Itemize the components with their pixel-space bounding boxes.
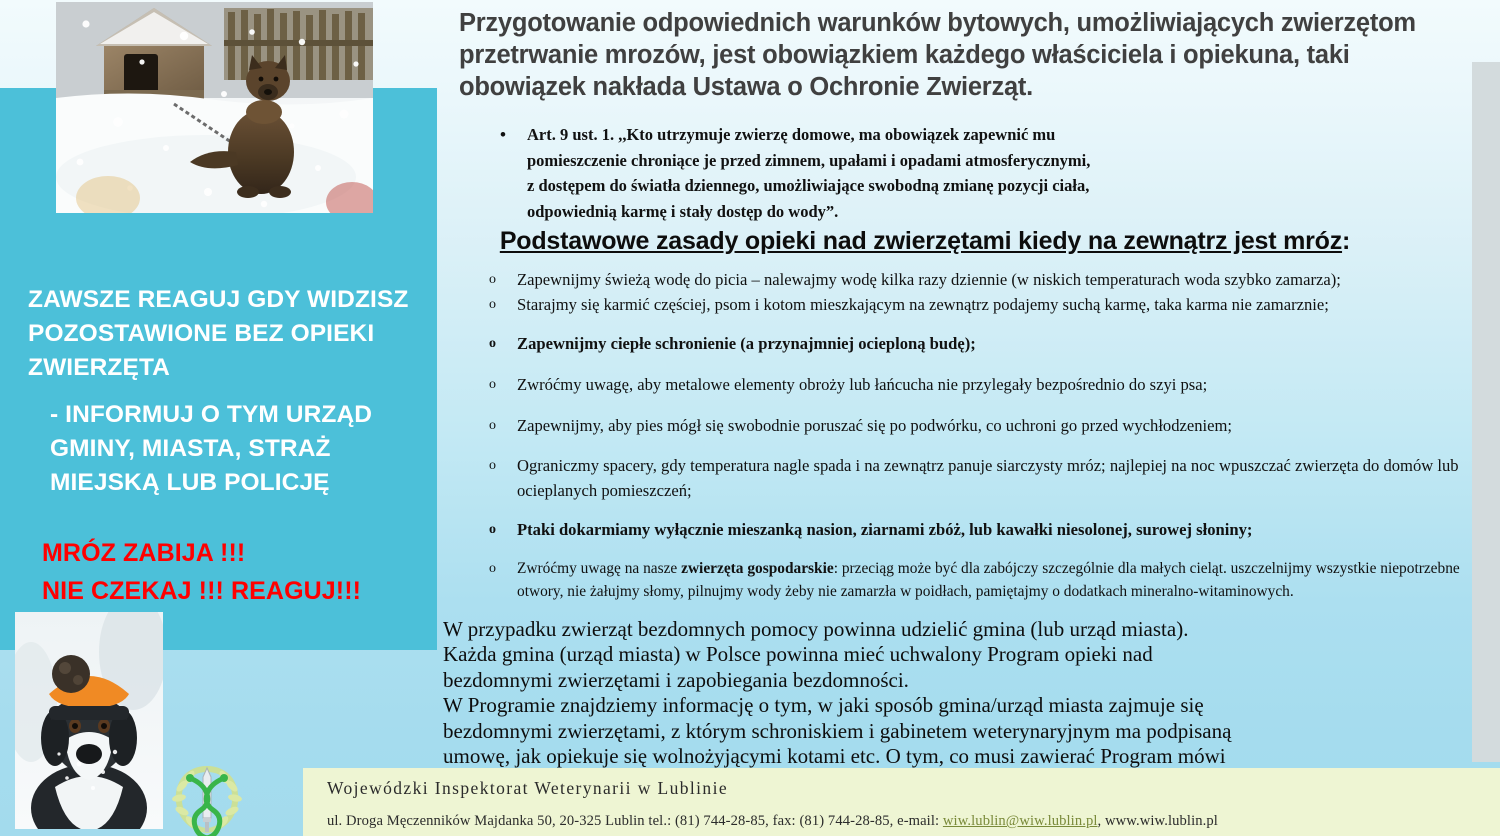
footer-email-link[interactable]: wiw.lublin@wiw.lublin.pl [943,813,1098,829]
footer-contact-line: ul. Droga Męczenników Majdanka 50, 20-32… [327,813,1218,830]
section-title-text: Podstawowe zasady opieki nad zwierzętami… [500,227,1342,255]
photo-dog-in-winter-hat [15,612,163,829]
tip-item: o Zwróćmy uwagę, aby metalowe elementy o… [455,373,1465,398]
sidebar-subline: - INFORMUJ O TYM URZĄD GMINY, MIASTA, ST… [50,398,440,500]
tip-item: o Starajmy się karmić częściej, psom i k… [455,293,1465,318]
circle-bullet-icon: o [489,415,496,436]
tip-text: Ptaki dokarmiamy wyłącznie mieszanką nas… [517,520,1252,539]
tip-text: Zapewnijmy świeżą wodę do picia – nalewa… [517,270,1341,289]
page-headline: Przygotowanie odpowiednich warunków byto… [459,8,1459,104]
right-side-panel [1472,62,1500,762]
closing-line: bezdomnymi zwierzętami i zapobiegania be… [443,668,1468,693]
circle-bullet-icon: o [489,269,496,290]
dog-in-hat-image [15,612,163,829]
law-line-3: z dostępem do światła dziennego, umożliw… [527,176,1089,195]
closing-line: Każda gmina (urząd miasta) w Polsce powi… [443,642,1468,667]
law-citation-block: • Art. 9 ust. 1. ,,Kto utrzymuje zwierzę… [467,122,1457,225]
section-title: Podstawowe zasady opieki nad zwierzętami… [375,227,1475,256]
law-citation-item: • Art. 9 ust. 1. ,,Kto utrzymuje zwierzę… [467,122,1457,225]
chained-dog-image [56,2,373,213]
main-content-column: Przygotowanie odpowiednich warunków byto… [437,0,1472,836]
veterinary-inspectorate-logo [170,762,244,836]
tip-text: Ograniczmy spacery, gdy temperatura nagl… [517,456,1459,500]
care-tips-list: o Zapewnijmy świeżą wodę do picia – nale… [455,268,1465,603]
bullet-dot-icon: • [500,122,506,149]
tip-item: o Ptaki dokarmiamy wyłącznie mieszanką n… [455,518,1465,543]
circle-bullet-icon: o [489,374,496,395]
tip-text: Starajmy się karmić częściej, psom i kot… [517,295,1329,314]
circle-bullet-icon: o [489,455,496,476]
circle-bullet-icon: o [489,558,496,579]
poster-slide: ZAWSZE REAGUJ GDY WIDZISZ POZOSTAWIONE B… [0,0,1500,836]
footer-address-after: , www.wiw.lublin.pl [1098,813,1218,829]
sidebar-headline: ZAWSZE REAGUJ GDY WIDZISZ POZOSTAWIONE B… [28,283,428,385]
sidebar-alert: MRÓZ ZABIJA !!! NIE CZEKAJ !!! REAGUJ!!! [42,534,442,610]
law-line-4: odpowiednią karmę i stały dostęp do wody… [527,202,838,221]
caduceus-icon [170,762,244,836]
law-line-2: pomieszczenie chroniące je przed zimnem,… [527,151,1090,170]
closing-line: umowę, jak opiekuje się wolnożyjącymi ko… [443,744,1468,769]
photo-chained-dog-in-snow [56,2,373,213]
tip-prefix: Zwróćmy uwagę na nasze [517,560,681,577]
tip-text: Zwróćmy uwagę, aby metalowe elementy obr… [517,375,1207,394]
tip-bold-livestock: zwierzęta gospodarskie [681,560,834,577]
alert-line-2: NIE CZEKAJ !!! REAGUJ!!! [42,572,442,610]
alert-line-1: MRÓZ ZABIJA !!! [42,534,442,572]
closing-line: bezdomnymi zwierzętami, z którym schroni… [443,719,1468,744]
tip-text: Zapewnijmy, aby pies mógł się swobodnie … [517,416,1232,435]
tip-item: o Zapewnijmy, aby pies mógł się swobodni… [455,414,1465,439]
tip-item: o Zapewnijmy świeżą wodę do picia – nale… [455,268,1465,293]
closing-line: W Programie znajdziemy informację o tym,… [443,693,1468,718]
section-title-colon: : [1342,227,1350,255]
tip-item: o Ograniczmy spacery, gdy temperatura na… [455,454,1465,504]
tip-text: Zapewnijmy ciepłe schronienie (a przynaj… [517,334,976,353]
closing-line: W przypadku zwierząt bezdomnych pomocy p… [443,617,1468,642]
footer-bar: Wojewódzki Inspektorat Weterynarii w Lub… [303,768,1500,836]
footer-organisation-name: Wojewódzki Inspektorat Weterynarii w Lub… [327,778,728,799]
circle-bullet-icon: o [489,519,496,540]
law-line-1: Art. 9 ust. 1. ,,Kto utrzymuje zwierzę d… [527,125,1055,144]
tip-item: o Zapewnijmy ciepłe schronienie (a przyn… [455,332,1465,357]
tip-item-livestock: o Zwróćmy uwagę na nasze zwierzęta gospo… [455,557,1465,603]
circle-bullet-icon: o [489,333,496,354]
footer-address-before: ul. Droga Męczenników Majdanka 50, 20-32… [327,813,943,829]
circle-bullet-icon: o [489,294,496,315]
